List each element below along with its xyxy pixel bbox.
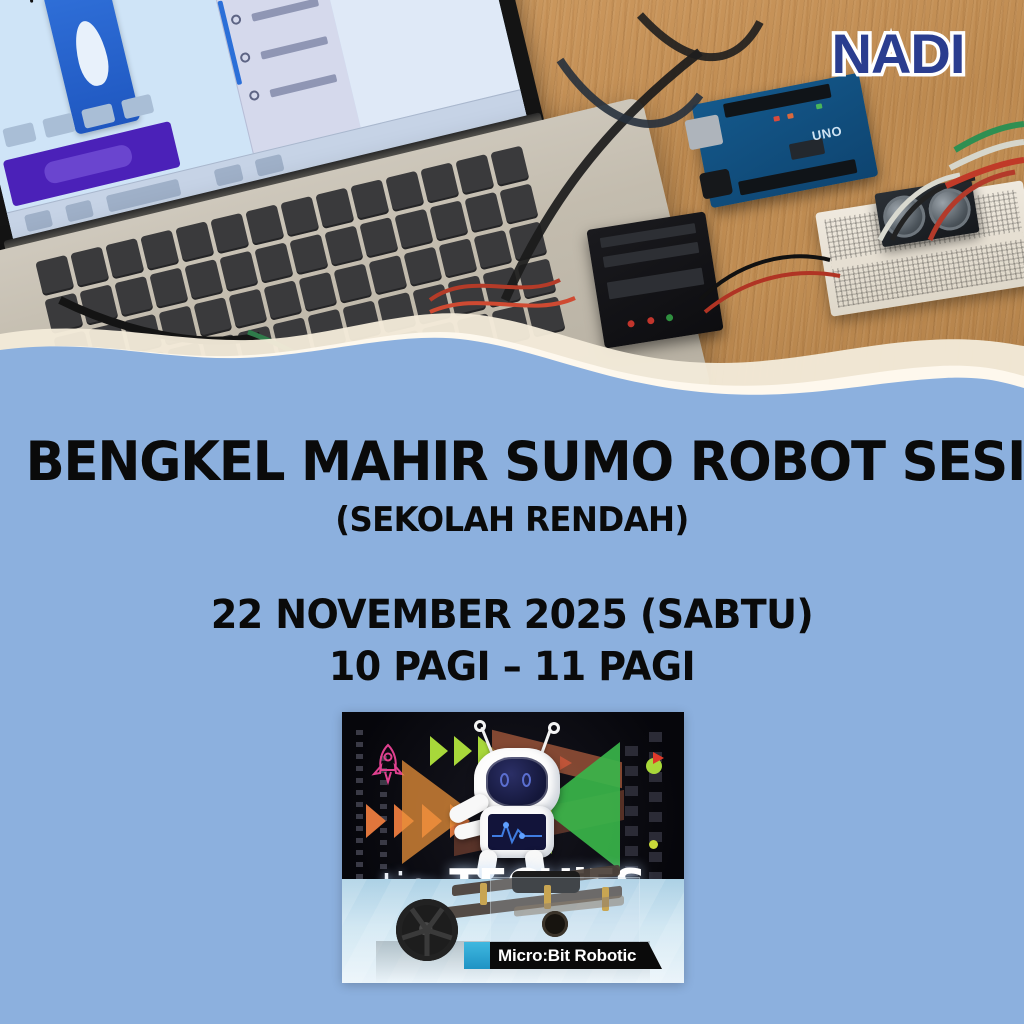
dot-yellow [649, 840, 658, 849]
antenna-ball-right [548, 722, 560, 734]
antenna-ball-left [474, 720, 486, 732]
nadi-logo: NADI [812, 22, 984, 86]
chassis-hole [542, 911, 568, 937]
square-rail-right-2 [625, 746, 638, 876]
chevron-orange-1 [366, 804, 386, 838]
robot-mascot [450, 726, 586, 872]
tinytechies-logo-card: tinyTECHiES Micr [342, 712, 684, 983]
triangle-red-tiny [653, 752, 664, 764]
caption-corner-triangle [648, 942, 662, 969]
robot-chest-screen [488, 814, 546, 850]
board-label: UNO [811, 123, 844, 144]
usb-port [684, 114, 723, 150]
torn-paper-divider [0, 300, 1024, 430]
nadi-logo-text: NADI [832, 26, 965, 82]
robot-visor [486, 757, 548, 807]
poster-root: UNO [0, 0, 1024, 1024]
triangle-spacer [636, 824, 650, 844]
caption-accent-bar [464, 942, 490, 969]
event-date: 22 NOVEMBER 2025 (SABTU) [26, 592, 999, 638]
power-jack [699, 168, 733, 199]
event-time: 10 PAGI – 11 PAGI [26, 644, 999, 690]
wheel-left [396, 899, 458, 961]
caption-badge: Micro:Bit Robotic [464, 942, 648, 969]
page-subtitle: (SEKOLAH RENDAH) [26, 500, 999, 540]
caption-text: Micro:Bit Robotic [490, 942, 648, 969]
dot-rail-left [356, 730, 363, 880]
page-title: BENGKEL MAHIR SUMO ROBOT SESI 5 [26, 430, 999, 493]
